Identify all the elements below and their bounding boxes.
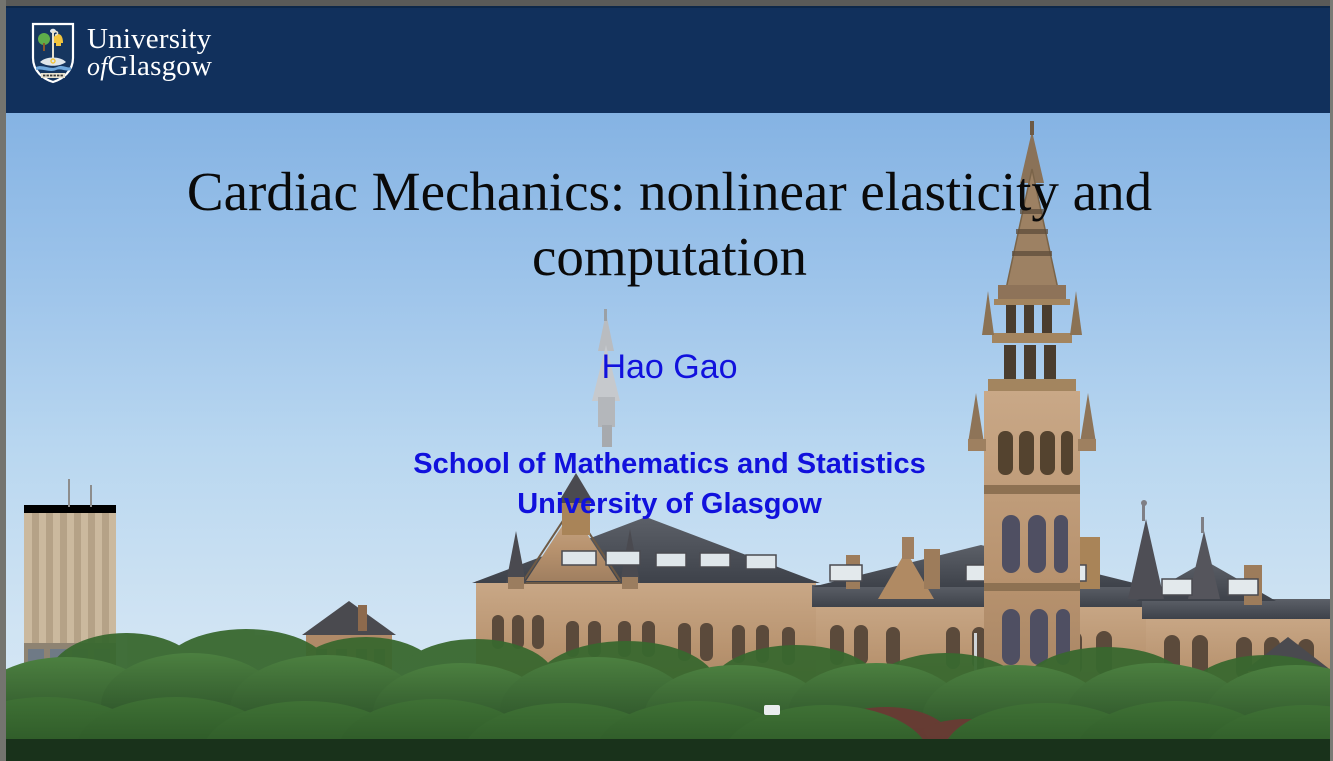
wordmark-line-1: University (87, 26, 212, 53)
header-top-divider (6, 6, 1333, 8)
university-wordmark: University ofGlasgow (87, 26, 212, 80)
wordmark-glasgow: Glasgow (108, 50, 213, 82)
brand-header-band: University ofGlasgow (6, 6, 1333, 113)
wordmark-line-2: ofGlasgow (87, 53, 212, 80)
university-crest-icon (30, 22, 76, 84)
slide-frame-left-border (0, 0, 6, 761)
wordmark-of: of (87, 52, 108, 81)
presentation-title-slide: University ofGlasgow Cardiac Mechanics: … (0, 0, 1333, 761)
university-logo: University ofGlasgow (30, 22, 212, 84)
campus-background-photo (6, 113, 1333, 761)
slide-frame-top-border (0, 0, 1333, 6)
